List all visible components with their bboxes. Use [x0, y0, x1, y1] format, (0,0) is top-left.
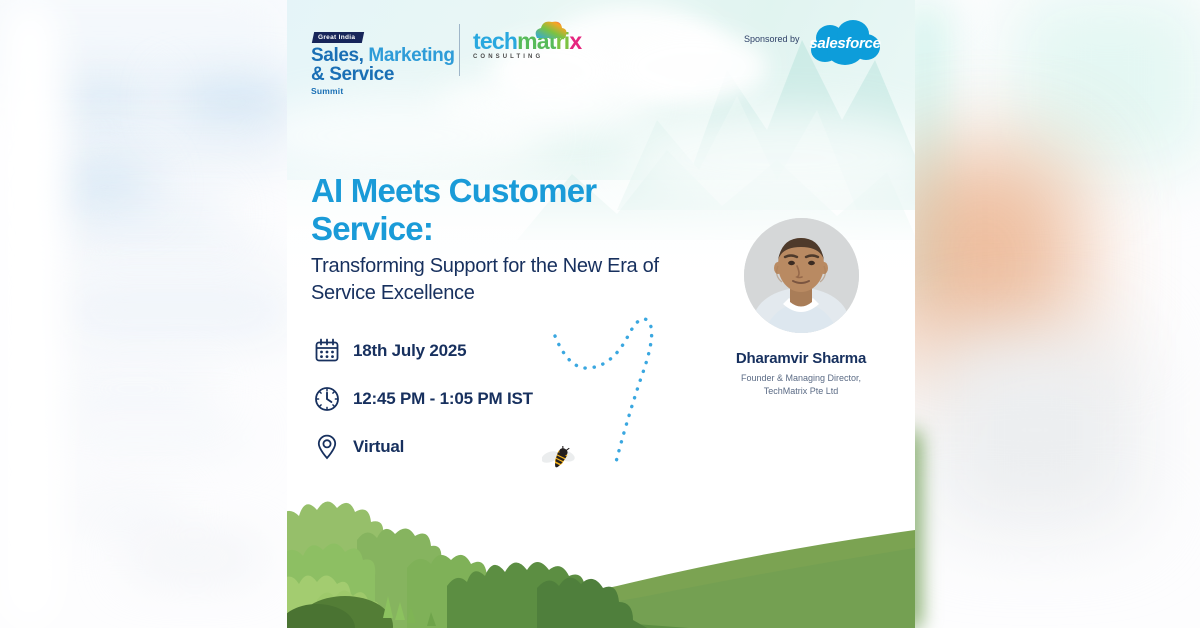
summit-logo: Great India Sales, Marketing & Service S… [311, 26, 455, 96]
banner-header: Great India Sales, Marketing & Service S… [287, 0, 915, 100]
summit-logo-sales: Sales, [311, 45, 368, 66]
detail-value-location: Virtual [353, 437, 404, 457]
bg-shape [55, 280, 295, 340]
event-headline: AI Meets Customer Service: [311, 172, 691, 247]
event-subheadline: Transforming Support for the New Era of … [311, 253, 691, 306]
bg-shape [60, 205, 220, 223]
event-details-list: 18th July 2025 12:45 PM - 1:05 PM IST [311, 335, 533, 479]
bg-shape [60, 380, 210, 398]
bg-shape [60, 175, 148, 199]
bg-shape [60, 430, 250, 446]
location-pin-icon [311, 431, 343, 463]
salesforce-logo: salesforce [808, 20, 882, 71]
speaker-role: Founder & Managing Director, TechMatrix … [691, 372, 911, 398]
great-india-badge: Great India [312, 32, 365, 43]
clock-icon [311, 383, 343, 415]
bg-shape [1010, 0, 1200, 170]
detail-value-time: 12:45 PM - 1:05 PM IST [353, 389, 533, 409]
techmatrix-word-part4: x [569, 28, 581, 54]
logo-divider [459, 24, 460, 76]
bg-shape [60, 88, 150, 114]
headline-block: AI Meets Customer Service: Transforming … [311, 172, 691, 306]
sponsored-by-label: Sponsored by [744, 34, 800, 44]
speaker-name: Dharamvir Sharma [691, 350, 911, 367]
detail-row-location: Virtual [311, 431, 533, 463]
summit-logo-line3: Summit [311, 86, 455, 96]
summit-logo-marketing: Marketing [368, 45, 454, 66]
bg-shape [60, 140, 295, 162]
bg-shape [175, 88, 295, 116]
bg-shape [0, 0, 60, 628]
bg-shape [130, 545, 260, 571]
calendar-icon [311, 335, 343, 367]
salesforce-wordmark: salesforce [808, 20, 882, 66]
summit-logo-line1: Sales, Marketing [311, 46, 455, 65]
detail-row-date: 18th July 2025 [311, 335, 533, 367]
techmatrix-word-part1: tech [473, 28, 517, 54]
speaker-block: Dharamvir Sharma Founder & Managing Dire… [691, 218, 911, 398]
bush-cluster [287, 468, 707, 628]
bg-shape [60, 240, 270, 256]
detail-row-time: 12:45 PM - 1:05 PM IST [311, 383, 533, 415]
techmatrix-cloud-icon [531, 18, 569, 47]
techmatrix-tagline: CONSULTING [473, 54, 581, 60]
techmatrix-logo: techmatrix CONSULTING [473, 30, 581, 60]
great-india-badge-label: Great India [318, 34, 355, 41]
detail-value-date: 18th July 2025 [353, 341, 466, 361]
bg-shape [930, 330, 1140, 530]
summit-logo-line2: & Service [311, 65, 455, 84]
bg-shape [60, 500, 180, 520]
speaker-role-line2: TechMatrix Pte Ltd [691, 385, 911, 398]
speaker-role-line1: Founder & Managing Director, [691, 372, 911, 385]
event-banner-card: Great India Sales, Marketing & Service S… [287, 0, 915, 628]
bottom-scenery [287, 468, 915, 628]
speaker-avatar [744, 218, 859, 333]
